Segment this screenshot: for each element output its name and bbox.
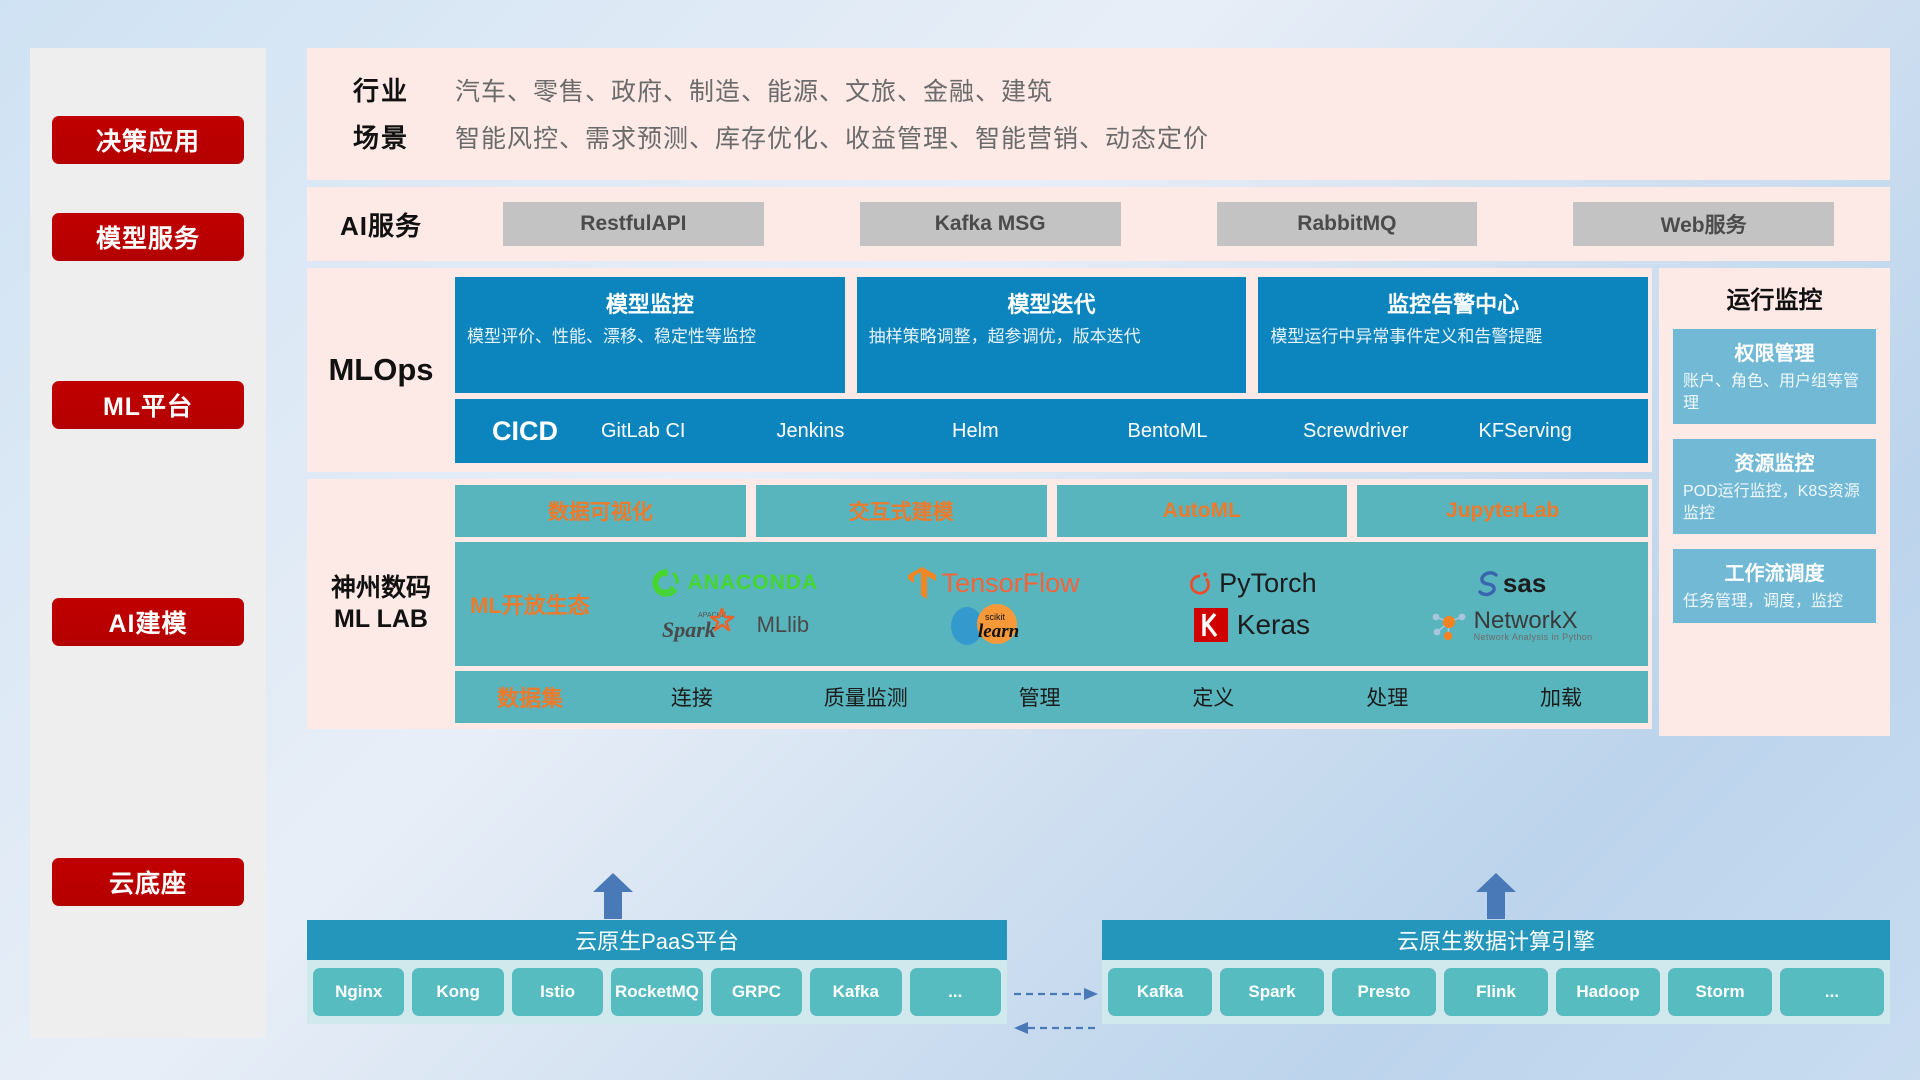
data-engine-chip[interactable]: Flink — [1444, 968, 1548, 1016]
cicd-item[interactable]: Jenkins — [771, 421, 947, 442]
arrow-up-paas — [592, 873, 634, 919]
dataset-item[interactable]: 管理 — [953, 682, 1127, 712]
data-engine-chip[interactable]: Spark — [1220, 968, 1324, 1016]
rail-button-1[interactable]: 模型服务 — [52, 213, 244, 261]
svg-text:Spark: Spark — [662, 617, 716, 642]
paas-chip[interactable]: GRPC — [711, 968, 802, 1016]
paas-title: 云原生PaaS平台 — [307, 920, 1007, 960]
pytorch-label: PyTorch — [1219, 568, 1317, 599]
scenario-row: 场景 智能风控、需求预测、库存优化、收益管理、智能营销、动态定价 — [307, 113, 1890, 160]
monitoring-card[interactable]: 权限管理 账户、角色、用户组等管理 — [1673, 329, 1876, 424]
cicd-item[interactable]: Screwdriver — [1297, 421, 1473, 442]
mlops-card[interactable]: 监控告警中心 模型运行中异常事件定义和告警提醒 — [1258, 277, 1648, 393]
middle-zone: MLOps 模型监控 模型评价、性能、漂移、稳定性等监控 模型迭代 抽样策略调整… — [307, 268, 1890, 736]
networkx-logo: NetworkX Network Analysis in Python — [1429, 608, 1593, 642]
band-ai-modeling: 神州数码 ML LAB 数据可视化 交互式建模 AutoML JupyterLa… — [307, 479, 1652, 729]
monitoring-card-desc: 任务管理，调度，监控 — [1683, 591, 1866, 613]
cloud-foundation-zone: 云原生PaaS平台 Nginx Kong Istio RocketMQ GRPC… — [307, 880, 1890, 1040]
paas-chip[interactable]: Nginx — [313, 968, 404, 1016]
tensorflow-icon — [907, 566, 937, 600]
spark-icon: APACHE Spark — [660, 607, 750, 643]
paas-chip[interactable]: RocketMQ — [611, 968, 702, 1016]
rail-button-4[interactable]: 云底座 — [52, 858, 244, 906]
monitoring-card[interactable]: 资源监控 POD运行监控，K8S资源监控 — [1673, 439, 1876, 534]
mlops-stack: 模型监控 模型评价、性能、漂移、稳定性等监控 模型迭代 抽样策略调整，超参调优，… — [455, 277, 1652, 463]
band-decision-application: 行业 汽车、零售、政府、制造、能源、文旅、金融、建筑 场景 智能风控、需求预测、… — [307, 48, 1890, 180]
anaconda-label: ANACONDA — [688, 571, 819, 595]
dataset-item[interactable]: 处理 — [1300, 682, 1474, 712]
cloud-native-paas-platform: 云原生PaaS平台 Nginx Kong Istio RocketMQ GRPC… — [307, 920, 1007, 1024]
spark-mllib-logo: APACHE Spark MLlib — [660, 607, 810, 643]
networkx-tagline: Network Analysis in Python — [1474, 633, 1593, 642]
sas-logo: sas — [1475, 568, 1546, 599]
cicd-item[interactable]: Helm — [946, 421, 1122, 442]
cicd-item[interactable]: GitLab CI — [595, 421, 771, 442]
ai-service-chip-list: RestfulAPI Kafka MSG RabbitMQ Web服务 — [455, 202, 1890, 246]
keras-label: Keras — [1237, 609, 1310, 641]
cicd-item-list: GitLab CI Jenkins Helm BentoML Screwdriv… — [595, 421, 1648, 442]
cloud-native-data-compute-engine: 云原生数据计算引擎 Kafka Spark Presto Flink Hadoo… — [1102, 920, 1890, 1024]
band-model-service: AI服务 RestfulAPI Kafka MSG RabbitMQ Web服务 — [307, 187, 1890, 261]
mlops-card-title: 模型监控 — [467, 287, 833, 319]
networkx-label: NetworkX — [1474, 609, 1593, 633]
paas-chip-list: Nginx Kong Istio RocketMQ GRPC Kafka ... — [307, 960, 1007, 1024]
cicd-item[interactable]: BentoML — [1122, 421, 1298, 442]
mllib-label: MLlib — [757, 612, 810, 638]
dataset-item[interactable]: 质量监测 — [779, 682, 953, 712]
dataset-item[interactable]: 定义 — [1126, 682, 1300, 712]
data-engine-chip[interactable]: Kafka — [1108, 968, 1212, 1016]
industry-row: 行业 汽车、零售、政府、制造、能源、文旅、金融、建筑 — [307, 66, 1890, 113]
ml-lab-tool[interactable]: 交互式建模 — [756, 485, 1047, 537]
ml-lab-tool-list: 数据可视化 交互式建模 AutoML JupyterLab — [455, 485, 1648, 537]
tensorflow-logo: TensorFlow — [907, 566, 1080, 600]
mlops-card[interactable]: 模型迭代 抽样策略调整，超参调优，版本迭代 — [857, 277, 1247, 393]
sas-label: sas — [1503, 568, 1546, 599]
data-engine-chip[interactable]: Presto — [1332, 968, 1436, 1016]
band-mlops: MLOps 模型监控 模型评价、性能、漂移、稳定性等监控 模型迭代 抽样策略调整… — [307, 268, 1652, 472]
cicd-row: CICD GitLab CI Jenkins Helm BentoML Scre… — [455, 399, 1648, 463]
mlops-card-desc: 抽样策略调整，超参调优，版本迭代 — [869, 326, 1235, 349]
cicd-label: CICD — [455, 416, 595, 447]
networkx-icon — [1429, 608, 1469, 642]
ml-lab-key-line2: ML LAB — [334, 604, 428, 635]
scikit-learn-icon: scikit learn — [945, 604, 1041, 646]
ai-service-chip[interactable]: RabbitMQ — [1217, 202, 1478, 246]
cicd-item[interactable]: KFServing — [1473, 421, 1649, 442]
dataset-item[interactable]: 加载 — [1474, 682, 1648, 712]
monitoring-card-title: 工作流调度 — [1683, 557, 1866, 586]
keras-logo: Keras — [1194, 608, 1310, 642]
bidirectional-link-arrows — [1012, 980, 1100, 1042]
monitoring-card-desc: 账户、角色、用户组等管理 — [1683, 371, 1866, 414]
platform-column: MLOps 模型监控 模型评价、性能、漂移、稳定性等监控 模型迭代 抽样策略调整… — [307, 268, 1652, 736]
paas-chip[interactable]: Istio — [512, 968, 603, 1016]
industry-value: 汽车、零售、政府、制造、能源、文旅、金融、建筑 — [455, 72, 1053, 108]
ml-lab-key: 神州数码 ML LAB — [307, 485, 455, 723]
paas-chip[interactable]: Kafka — [810, 968, 901, 1016]
ml-lab-tool[interactable]: AutoML — [1057, 485, 1348, 537]
mlops-card[interactable]: 模型监控 模型评价、性能、漂移、稳定性等监控 — [455, 277, 845, 393]
mlops-card-desc: 模型评价、性能、漂移、稳定性等监控 — [467, 326, 833, 349]
ai-service-chip[interactable]: RestfulAPI — [503, 202, 764, 246]
paas-chip[interactable]: ... — [910, 968, 1001, 1016]
ml-lab-key-line1: 神州数码 — [331, 573, 431, 604]
scikit-learn-logo: scikit learn — [945, 604, 1041, 646]
layer-rail: 决策应用模型服务ML平台AI建模云底座 — [30, 48, 266, 1038]
data-engine-chip-list: Kafka Spark Presto Flink Hadoop Storm ..… — [1102, 960, 1890, 1024]
data-engine-chip[interactable]: Hadoop — [1556, 968, 1660, 1016]
mlops-card-title: 监控告警中心 — [1270, 287, 1636, 319]
mlops-card-desc: 模型运行中异常事件定义和告警提醒 — [1270, 326, 1636, 349]
ml-ecosystem-label: ML开放生态 — [455, 588, 605, 620]
mlops-card-list: 模型监控 模型评价、性能、漂移、稳定性等监控 模型迭代 抽样策略调整，超参调优，… — [455, 277, 1648, 393]
rail-button-2[interactable]: ML平台 — [52, 381, 244, 429]
monitoring-card-title: 资源监控 — [1683, 447, 1866, 476]
arrow-up-data-engine — [1475, 873, 1517, 919]
data-engine-title: 云原生数据计算引擎 — [1102, 920, 1890, 960]
monitoring-column: 运行监控 权限管理 账户、角色、用户组等管理 资源监控 POD运行监控，K8S资… — [1659, 268, 1890, 736]
tensorflow-label: TensorFlow — [942, 568, 1080, 599]
scenario-key: 场景 — [307, 118, 455, 155]
keras-icon — [1194, 608, 1228, 642]
ai-service-key: AI服务 — [307, 206, 455, 243]
data-engine-chip[interactable]: ... — [1780, 968, 1884, 1016]
monitoring-card[interactable]: 工作流调度 任务管理，调度，监控 — [1673, 549, 1876, 623]
ml-ecosystem-logos: ANACONDA TensorFlow — [605, 562, 1648, 646]
dataset-label: 数据集 — [455, 681, 605, 713]
dataset-row: 数据集 连接 质量监测 管理 定义 处理 加载 — [455, 671, 1648, 723]
industry-key: 行业 — [307, 71, 455, 108]
mlops-card-title: 模型迭代 — [869, 287, 1235, 319]
architecture-board: 行业 汽车、零售、政府、制造、能源、文旅、金融、建筑 场景 智能风控、需求预测、… — [307, 48, 1890, 736]
dataset-item-list: 连接 质量监测 管理 定义 处理 加载 — [605, 682, 1648, 712]
sas-icon — [1475, 569, 1501, 597]
rail-button-3[interactable]: AI建模 — [52, 598, 244, 646]
pytorch-logo: PyTorch — [1187, 568, 1317, 599]
ml-lab-tool[interactable]: JupyterLab — [1357, 485, 1648, 537]
pytorch-icon — [1187, 568, 1213, 598]
paas-chip[interactable]: Kong — [412, 968, 503, 1016]
ai-service-chip[interactable]: Web服务 — [1573, 202, 1834, 246]
anaconda-icon — [651, 568, 681, 598]
scenario-value: 智能风控、需求预测、库存优化、收益管理、智能营销、动态定价 — [455, 119, 1209, 155]
monitoring-title: 运行监控 — [1673, 280, 1876, 315]
dataset-item[interactable]: 连接 — [605, 682, 779, 712]
svg-text:learn: learn — [978, 621, 1019, 642]
monitoring-card-title: 权限管理 — [1683, 337, 1866, 366]
ml-lab-stack: 数据可视化 交互式建模 AutoML JupyterLab ML开放生态 — [455, 485, 1652, 723]
ml-lab-tool[interactable]: 数据可视化 — [455, 485, 746, 537]
data-engine-chip[interactable]: Storm — [1668, 968, 1772, 1016]
ai-service-chip[interactable]: Kafka MSG — [860, 202, 1121, 246]
monitoring-card-desc: POD运行监控，K8S资源监控 — [1683, 481, 1866, 524]
anaconda-logo: ANACONDA — [651, 568, 819, 598]
ml-open-ecosystem: ML开放生态 ANACONDA — [455, 542, 1648, 666]
mlops-key: MLOps — [307, 277, 455, 463]
rail-button-0[interactable]: 决策应用 — [52, 116, 244, 164]
